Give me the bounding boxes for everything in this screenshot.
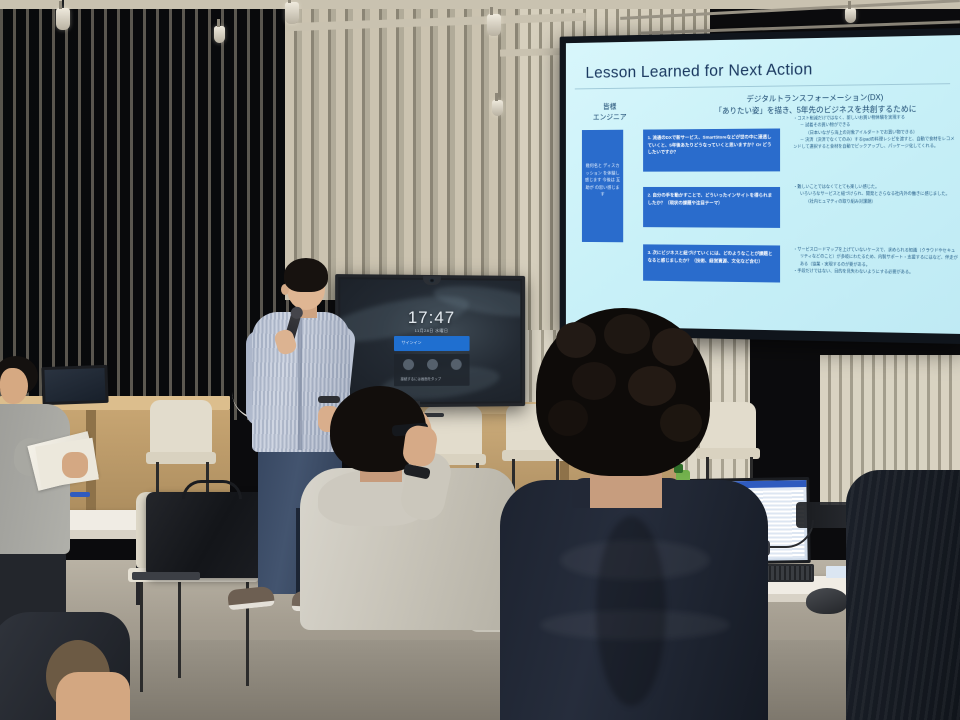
projection-screen: Lesson Learned for Next Action デジタルトランスフ… [560,28,960,344]
slide-title-underline [575,83,950,89]
presenter-hair [284,258,328,292]
screen-share-icon[interactable] [427,359,438,370]
side-label-line2: エンジニア [582,112,638,123]
slide-question-box-3: 3. 次にビジネスと紐づけていくには、どのようなことが課題となると感じましたか？… [643,244,780,282]
spotlight-3 [487,14,501,36]
left-person-hand [62,452,88,478]
spotlight-4 [492,100,503,116]
camera-icon [423,276,441,285]
monitor-panel-hint: 接続するには画面をタップ [401,376,442,381]
left-person-face [0,368,28,404]
tablet-device[interactable] [41,365,108,405]
audience-bottom-right-person [846,470,960,720]
sign-in-button-label: サインイン [402,340,422,346]
side-label-line1: 皆様 [582,101,638,112]
monitor-date: 11月28日 水曜日 [415,328,449,334]
spotlight-2 [285,2,299,24]
bullet-2-line-2: いろいろなサービスと紐づけられ、開発とさらなる社内外の働きに感じました。 [793,190,960,197]
monitor-action-panel: 接続するには画面をタップ [393,354,469,386]
slide-bullet-group-3: ・サービスロードマップを上げていないケースで、求められる知識（クラウドやセキュ … [793,246,960,277]
question-2-text: 自分の手を動かすことで、どういったインサイトを得られましたか？（現状の課題や注目… [648,194,772,206]
presenter-watch [318,396,340,403]
bullet-3-line-4: ・手段だけではない、目的を見失わないようにする必要がある。 [793,267,960,276]
call-icon[interactable] [450,359,461,370]
slide-side-box: 幾何名と ディスカッション を体験し感じます 今後は 互助が の思い感じます [582,130,623,243]
presentation-slide: Lesson Learned for Next Action デジタルトランスフ… [566,35,960,334]
slide-question-box-2: 2. 自分の手を動かすことで、どういったインサイトを得られましたか？（現状の課題… [643,187,780,228]
slide-side-label: 皆様 エンジニア [582,101,638,123]
mouse[interactable] [806,588,848,614]
spotlight-5 [214,26,225,43]
question-1-text: 流通のDXで新サービス、SmartStoreなどが世の中に浸透していくと、5年後… [648,135,772,155]
laptop-under-bag [132,572,200,580]
slide-bullet-group-1: ・コスト削減だけではなく、新しいお買い物体験を実現する － 試着その買い物ができ… [793,113,960,150]
bag-handle[interactable] [182,480,242,499]
bottom-left-person-hand [56,672,130,720]
sign-in-button[interactable]: サインイン [393,336,469,351]
slide-title: Lesson Learned for Next Action [585,60,812,83]
tablet-display [44,368,105,402]
bullet-1-line-5: ンドして選択すると食材を自動でピックアップし、パッケージ化してくれる。 [793,142,960,150]
photo-scene: Lesson Learned for Next Action デジタルトランスフ… [0,0,960,720]
question-2-number: 2. [648,194,652,199]
question-3-number: 3. [648,251,652,256]
question-3-text: 次にビジネスと紐づけていくには、どのようなことが課題となると感じましたか？（技術… [648,251,773,264]
foreground-person-hair [536,308,710,476]
monitor-clock: 17:47 [408,308,455,328]
bullet-2-line-1: ・難しいことではなくてとても楽しい感じた。 [793,183,960,190]
slide-bullet-group-2: ・難しいことではなくてとても楽しい感じた。 いろいろなサービスと紐づけられ、開発… [793,183,960,205]
floor-foreground [0,640,960,720]
slide-question-box-1: 1. 流通のDXで新サービス、SmartStoreなどが世の中に浸透していくと、… [643,128,780,171]
bullet-2-line-3: （社内ヒュマティの取り組み対課題） [793,197,960,205]
blue-pen[interactable] [70,492,90,497]
spotlight-6 [845,8,856,23]
spotlight-1 [56,8,70,30]
foreground-person-shirt [500,480,768,720]
question-1-number: 1. [648,136,652,141]
person-icon[interactable] [403,359,414,370]
